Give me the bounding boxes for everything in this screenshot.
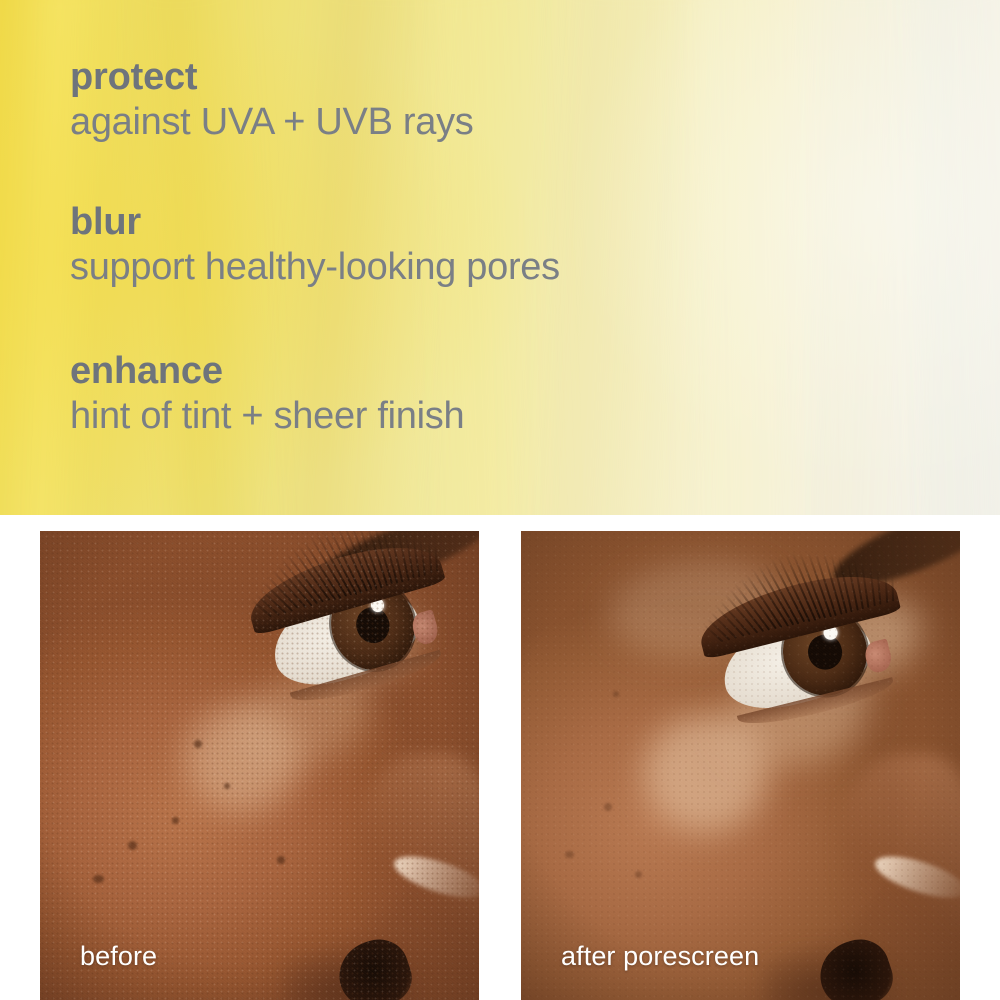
before-photo: before xyxy=(40,531,479,1000)
benefit-title-enhance: enhance xyxy=(70,352,464,391)
benefit-item-blur: blur support healthy-looking pores xyxy=(70,203,560,288)
benefit-item-enhance: enhance hint of tint + sheer finish xyxy=(70,352,464,437)
before-caption: before xyxy=(80,941,157,972)
benefits-panel: protect against UVA + UVB rays blur supp… xyxy=(0,0,1000,515)
photo-vignette xyxy=(521,531,960,1000)
benefit-desc-enhance: hint of tint + sheer finish xyxy=(70,395,464,438)
benefit-desc-protect: against UVA + UVB rays xyxy=(70,101,474,144)
photo-vignette xyxy=(40,531,479,1000)
after-photo: after porescreen xyxy=(521,531,960,1000)
benefit-title-blur: blur xyxy=(70,203,560,242)
after-caption: after porescreen xyxy=(561,941,759,972)
before-after-comparison: before xyxy=(0,515,1000,1000)
benefit-item-protect: protect against UVA + UVB rays xyxy=(70,58,474,143)
benefit-desc-blur: support healthy-looking pores xyxy=(70,246,560,289)
benefit-title-protect: protect xyxy=(70,58,474,97)
promo-image: protect against UVA + UVB rays blur supp… xyxy=(0,0,1000,1000)
